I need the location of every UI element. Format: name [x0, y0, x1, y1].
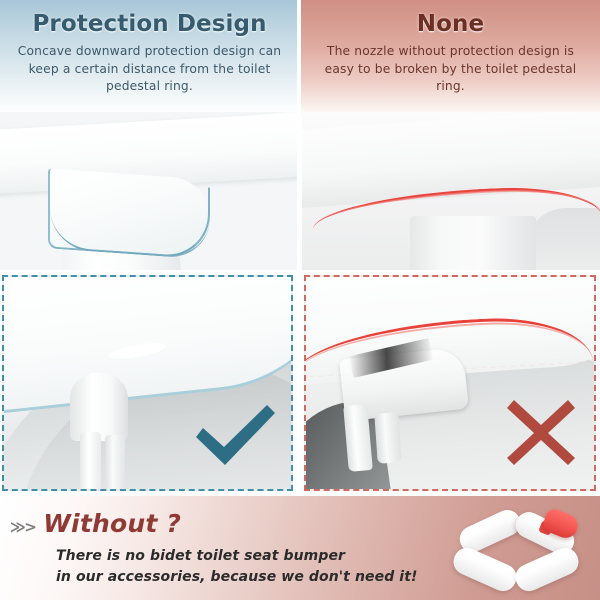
cross-icon	[504, 397, 578, 467]
footer-description-line-2: in our accessories, because we don't nee…	[56, 567, 417, 588]
header: Protection Design Concave downward prote…	[0, 0, 600, 118]
header-subtitle-right: The nozzle without protection design is …	[301, 37, 600, 96]
bumper-capsule	[449, 544, 520, 596]
check-icon	[191, 397, 277, 471]
nozzle-body	[70, 373, 128, 441]
header-title-left: Protection Design	[0, 0, 299, 37]
chevron-right-icon: ≫>	[10, 518, 35, 536]
header-panel-none: None The nozzle without protection desig…	[301, 0, 600, 118]
footer-description-line-1: There is no bidet toilet seat bumper	[56, 546, 417, 567]
bumper-cluster-image	[440, 500, 590, 600]
header-title-right: None	[301, 0, 600, 37]
comparison-photo-grid	[0, 112, 600, 495]
photo-panel-top-left	[0, 112, 297, 270]
footer-description: There is no bidet toilet seat bumper in …	[56, 546, 417, 588]
product-infographic: Protection Design Concave downward prote…	[0, 0, 600, 600]
footer-title-row: ≫> Without ?	[10, 509, 181, 538]
header-subtitle-left: Concave downward protection design can k…	[0, 37, 299, 96]
photo-panel-top-right	[302, 112, 600, 270]
nozzle-arm-right	[374, 412, 401, 464]
teal-edge-highlight	[50, 176, 210, 259]
nozzle-arm-right	[105, 435, 125, 491]
footer-band: ≫> Without ? There is no bidet toilet se…	[0, 496, 600, 600]
photo-panel-bottom-left	[2, 275, 293, 491]
footer-title: Without ?	[43, 509, 181, 538]
nozzle-arm-left	[80, 432, 101, 491]
header-panel-protection-design: Protection Design Concave downward prote…	[0, 0, 299, 118]
photo-panel-bottom-right	[304, 275, 596, 491]
bumper-capsule	[511, 544, 582, 596]
